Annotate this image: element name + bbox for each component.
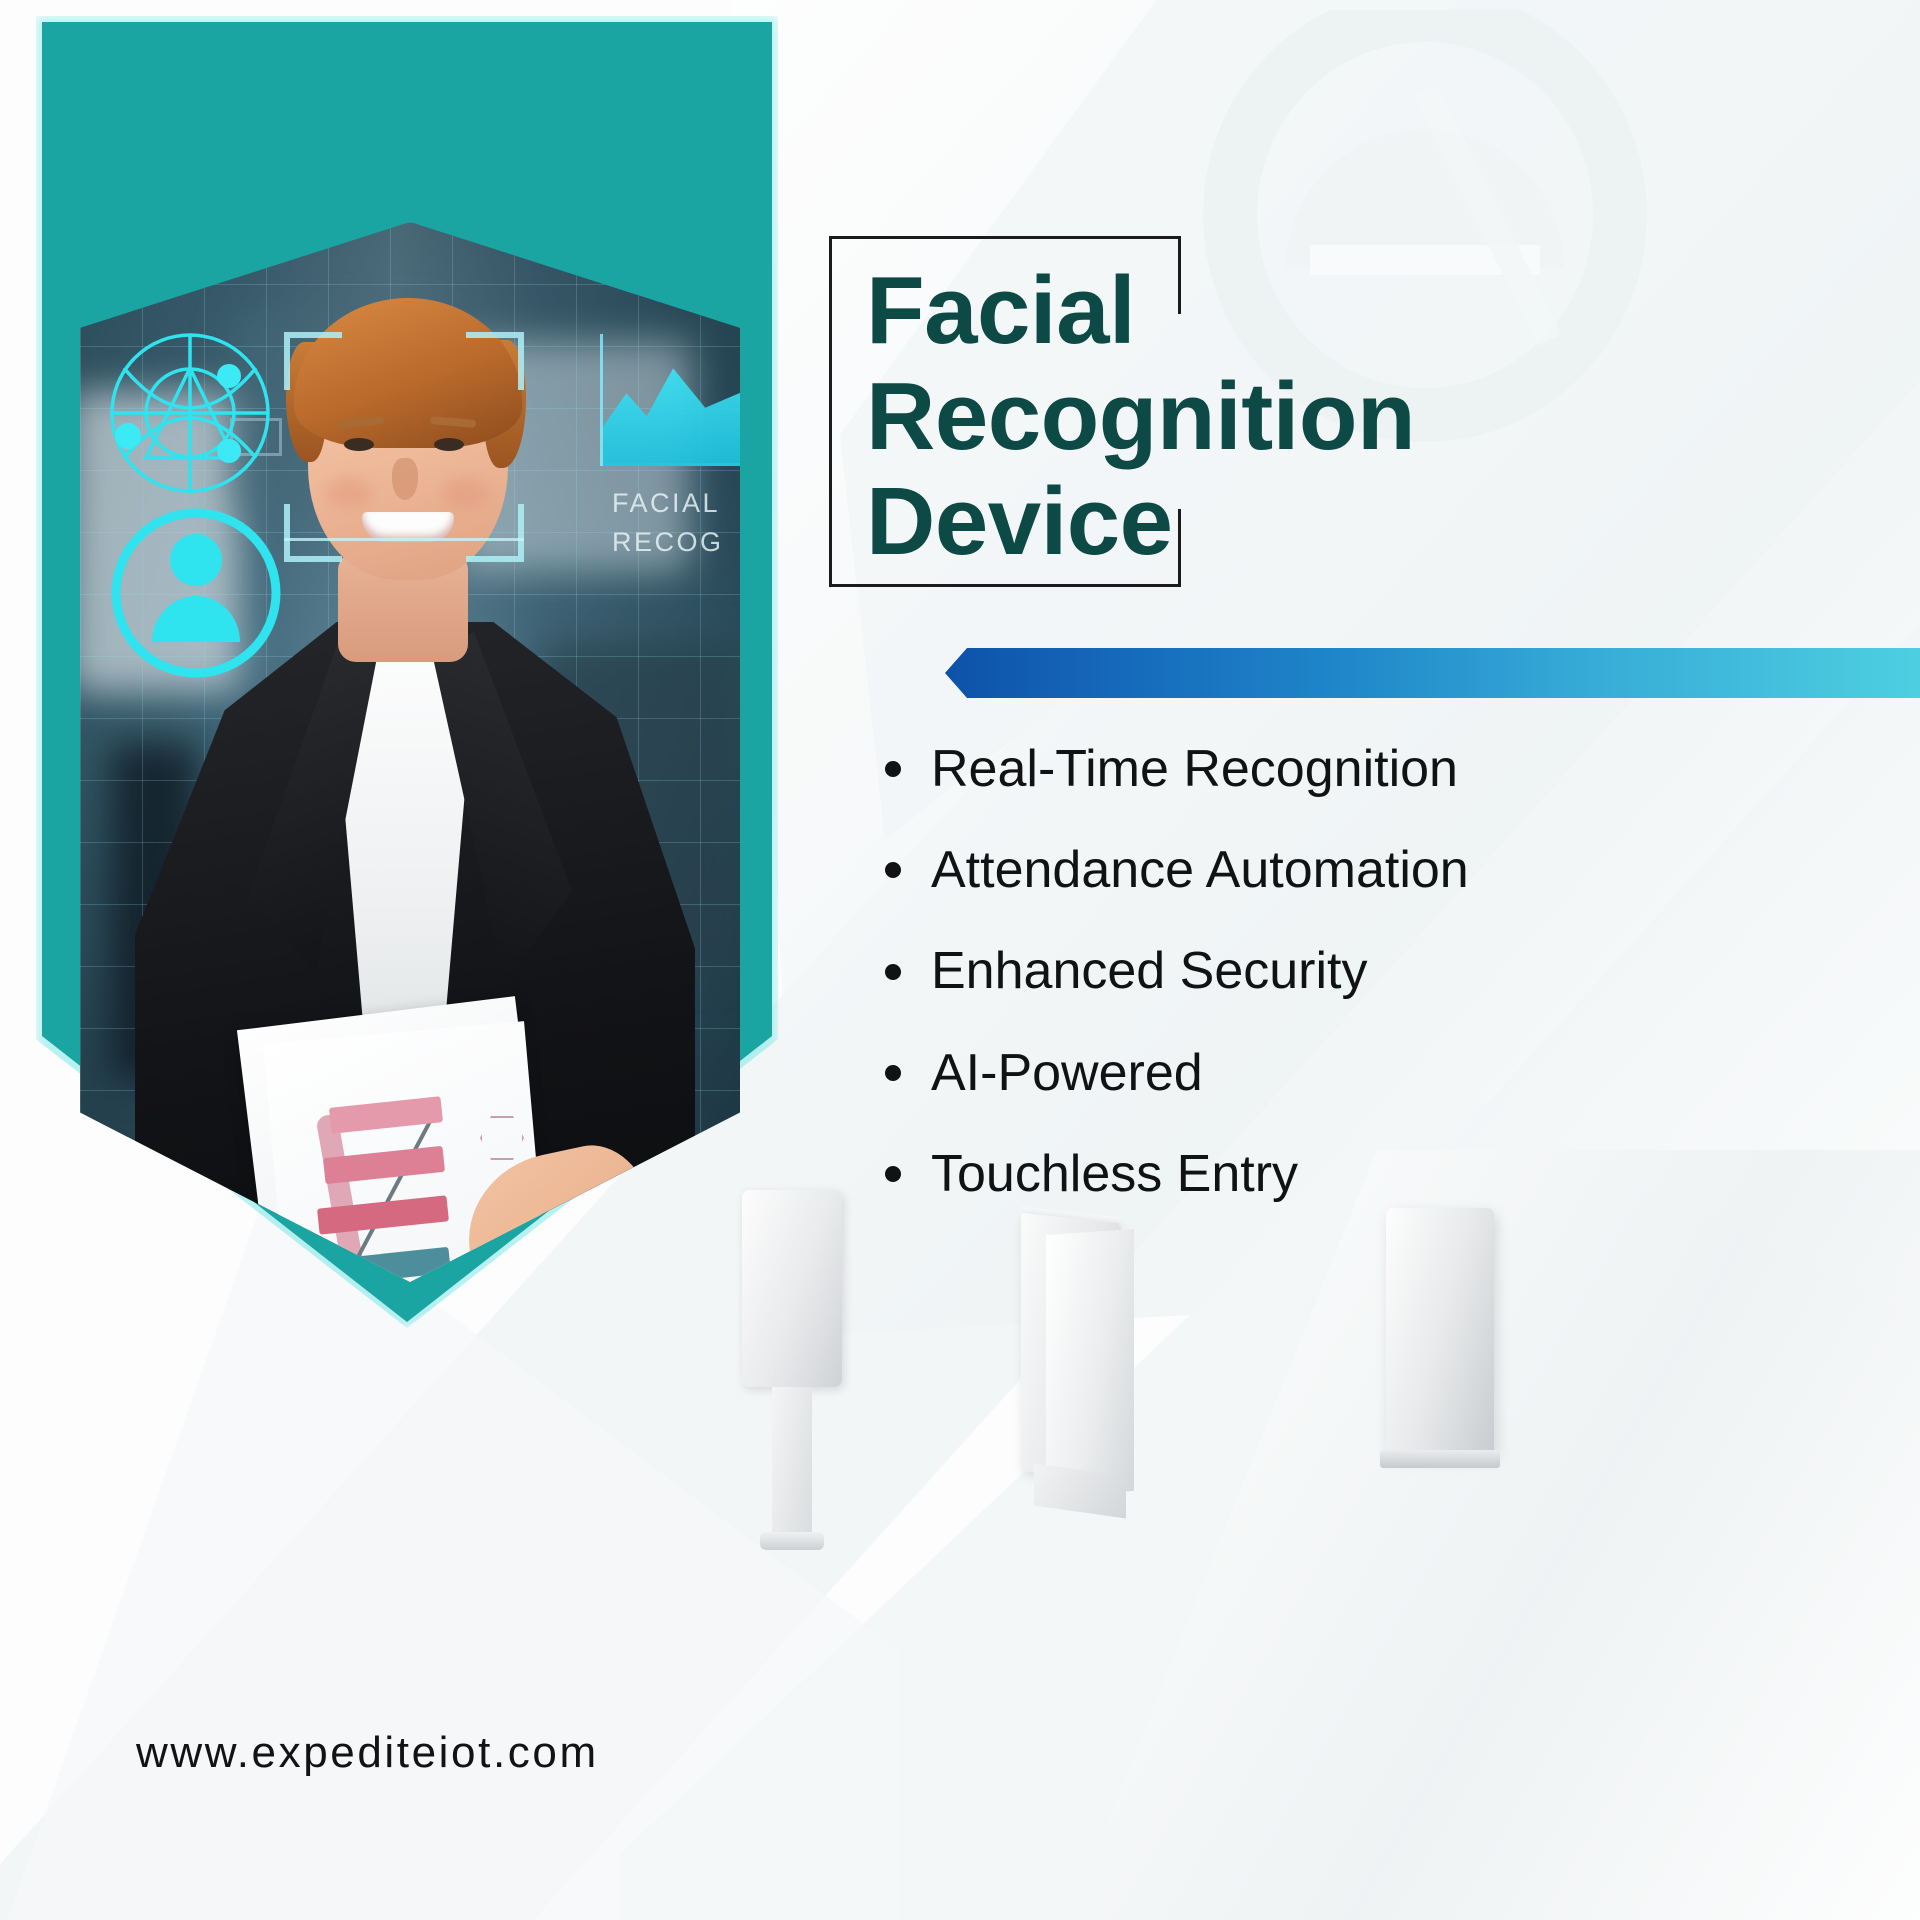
hero-photo: FACIAL RECOG [80, 222, 740, 1282]
bullet-dot-icon [885, 862, 901, 878]
frame-edge-bottom [829, 584, 1181, 587]
title-line-1: Facial [866, 258, 1906, 364]
feature-label: Enhanced Security [931, 942, 1368, 1000]
bullet-dot-icon [885, 964, 901, 980]
poster-canvas: FACIAL RECOG Facial Recognition Device R… [0, 0, 1920, 1920]
title-line-2: Recognition [866, 364, 1906, 470]
frame-edge-left [829, 236, 832, 587]
kiosk-pole [772, 1387, 812, 1539]
title-line-3: Device [866, 469, 1906, 575]
bullet-dot-icon [885, 1166, 901, 1182]
person-nose [392, 458, 418, 500]
bullet-dot-icon [885, 1065, 901, 1081]
feature-label: Attendance Automation [931, 841, 1469, 899]
gradient-accent-bar [945, 648, 1920, 698]
list-item: Real-Time Recognition [885, 740, 1895, 798]
person-eye [344, 438, 374, 451]
list-item: AI-Powered [885, 1044, 1895, 1102]
person-eye [434, 438, 464, 451]
terminal-body [1386, 1208, 1494, 1456]
feature-label: AI-Powered [931, 1044, 1203, 1102]
list-item: Enhanced Security [885, 942, 1895, 1000]
feature-label: Touchless Entry [931, 1145, 1298, 1203]
panel-front-face [1046, 1229, 1134, 1497]
list-item: Touchless Entry [885, 1145, 1895, 1203]
feature-list: Real-Time Recognition Attendance Automat… [885, 740, 1895, 1246]
page-title: Facial Recognition Device [866, 258, 1906, 575]
kiosk-base [760, 1532, 824, 1550]
terminal-base [1380, 1450, 1500, 1468]
bullet-dot-icon [885, 761, 901, 777]
kiosk-screen-panel [742, 1190, 842, 1387]
frame-edge-top [829, 236, 1181, 239]
person-smile [362, 512, 454, 542]
person-cheek [442, 478, 488, 508]
feature-label: Real-Time Recognition [931, 740, 1458, 798]
person-cheek [326, 478, 372, 508]
website-url[interactable]: www.expediteiot.com [136, 1728, 599, 1778]
list-item: Attendance Automation [885, 841, 1895, 899]
